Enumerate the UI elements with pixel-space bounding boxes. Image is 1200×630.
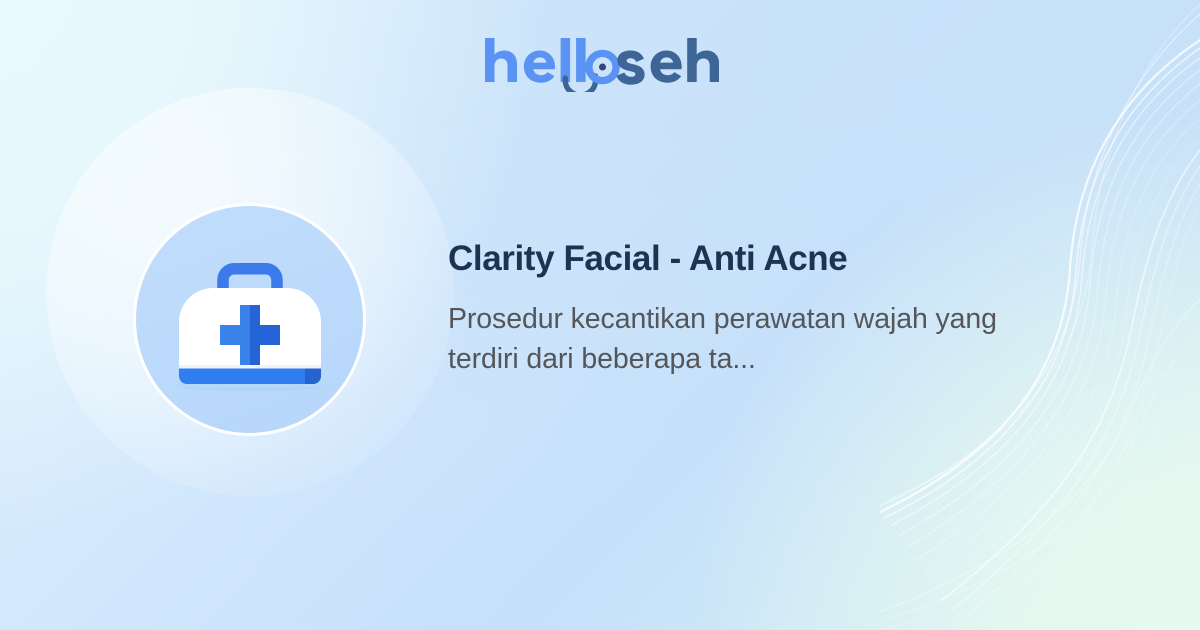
medical-bag-icon xyxy=(155,225,345,415)
medical-bag-icon-badge xyxy=(133,203,366,436)
bag-base-accent xyxy=(305,368,321,384)
bag-base xyxy=(179,368,321,384)
brand-logo xyxy=(0,34,1200,92)
content-text-block: Clarity Facial - Anti Acne Prosedur keca… xyxy=(448,238,1048,379)
social-share-card: Clarity Facial - Anti Acne Prosedur keca… xyxy=(0,0,1200,630)
page-description: Prosedur kecantikan perawatan wajah yang… xyxy=(448,300,1023,379)
page-title: Clarity Facial - Anti Acne xyxy=(448,238,1048,279)
